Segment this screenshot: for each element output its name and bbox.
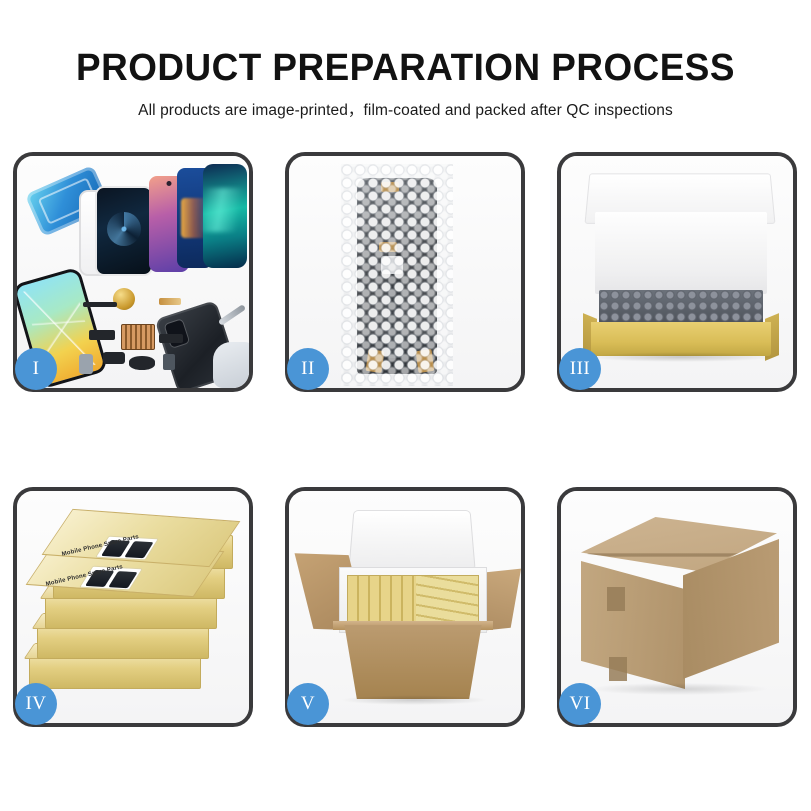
step-panel-4: Mobile Phone Spare Parts Mobile Phone Sp…	[13, 487, 253, 727]
step-panel-5: V	[285, 487, 525, 727]
step-image-5	[289, 491, 521, 723]
drop-shadow	[587, 352, 775, 362]
step-panel-3: III	[557, 152, 797, 392]
gold-speaker-component	[113, 288, 135, 310]
wrapped-screen	[357, 178, 437, 374]
gold-box	[37, 625, 209, 659]
step-badge-5: V	[287, 683, 329, 725]
teal-gradient-phone	[203, 164, 247, 268]
carton-tape-mark	[607, 587, 625, 611]
carton-front-face	[581, 561, 685, 689]
step-badge-1: I	[15, 348, 57, 390]
copper-shield-component	[121, 324, 155, 350]
carton-tape-mark	[609, 657, 627, 681]
speaker-module-part	[129, 356, 155, 370]
repair-tool	[218, 304, 246, 326]
drop-shadow	[341, 695, 487, 705]
wrapped-screen-base	[357, 334, 437, 374]
step-image-1	[17, 156, 249, 388]
step-badge-2: II	[287, 348, 329, 390]
process-steps-grid: I II	[13, 152, 798, 735]
hand-holding-tool	[213, 342, 249, 388]
camera-module-part	[163, 354, 175, 370]
parts-collage-illustration	[17, 156, 249, 388]
sim-tray-part	[79, 354, 93, 374]
tape-strip	[379, 242, 397, 252]
small-module-part	[103, 352, 125, 364]
tape-strip	[381, 182, 399, 192]
gold-box-stack: Mobile Phone Spare Parts Mobile Phone Sp…	[23, 505, 249, 717]
step-image-6	[561, 491, 793, 723]
header: PRODUCT PREPARATION PROCESS All products…	[0, 0, 811, 120]
step-panel-6: VI	[557, 487, 797, 727]
gold-boxes-inside	[347, 575, 479, 625]
bubble-wrap-bag	[341, 164, 453, 386]
bubble-wrapped-contents	[599, 290, 763, 324]
step-badge-3: III	[559, 348, 601, 390]
flex-cable-part	[89, 330, 115, 340]
white-foam-sheet	[595, 212, 767, 294]
step-image-3	[561, 156, 793, 388]
wrapped-flex-cable	[387, 248, 403, 358]
tape-strip	[416, 349, 435, 373]
gold-box	[29, 655, 201, 689]
drop-shadow	[591, 683, 767, 695]
page-subtitle: All products are image-printed，film-coat…	[0, 98, 811, 120]
step-image-2	[289, 156, 521, 388]
step-badge-6: VI	[559, 683, 601, 725]
gold-box	[45, 595, 217, 629]
flex-cable-part	[83, 302, 117, 307]
step-badge-4: IV	[15, 683, 57, 725]
black-display-panel	[95, 186, 153, 276]
product-preparation-infographic: PRODUCT PREPARATION PROCESS All products…	[0, 0, 811, 811]
flex-cable-part	[159, 334, 183, 343]
foam-box-lid	[348, 510, 475, 570]
tape-strip	[366, 349, 385, 373]
step-panel-2: II	[285, 152, 525, 392]
gold-box-tray	[591, 322, 771, 356]
step-image-4: Mobile Phone Spare Parts Mobile Phone Sp…	[17, 491, 249, 723]
step-panel-1: I	[13, 152, 253, 392]
gold-connector-part	[159, 298, 181, 305]
wrapped-connector	[381, 256, 403, 274]
page-title: PRODUCT PREPARATION PROCESS	[12, 48, 799, 89]
carton-body	[335, 625, 491, 699]
